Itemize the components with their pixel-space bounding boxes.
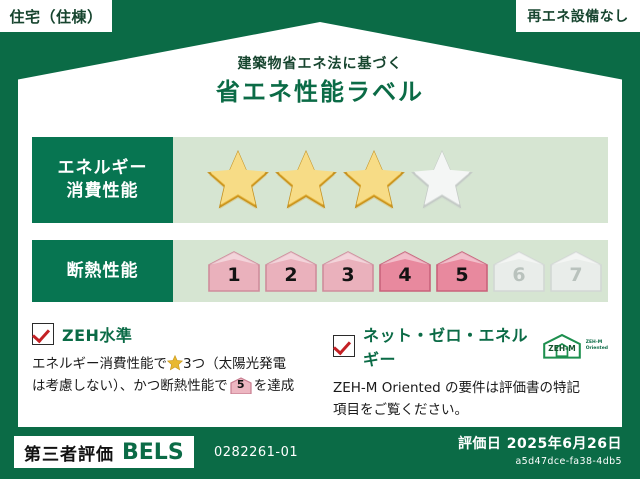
- star-filled-icon: [275, 150, 337, 210]
- evaluation-info: 評価日 2025年6月26日 a5d47dce-fa38-4db5: [458, 433, 622, 467]
- zeh-m-logo-caption: ZEH-M Oriented: [586, 340, 608, 351]
- evaluation-date: 評価日 2025年6月26日: [458, 433, 622, 453]
- insulation-performance-value: 1234567: [173, 240, 608, 302]
- star-rating: [207, 150, 473, 210]
- insulation-level-value: 2: [284, 264, 297, 292]
- zeh-body-part3: は考慮しない）、かつ断熱性能で: [32, 378, 228, 394]
- energy-performance-panel: エネルギー 消費性能: [32, 137, 608, 223]
- star-filled-icon: [343, 150, 405, 210]
- insulation-level-value: 6: [512, 264, 525, 292]
- zeh-body-part2: 3つ（太陽光発電: [183, 356, 286, 372]
- criteria-section: ZEH水準 エネルギー消費性能で3つ（太陽光発電 は考慮しない）、かつ断熱性能で…: [32, 322, 608, 422]
- net-zero-body: ZEH-M Oriented の要件は評価書の特記 項目をご覧ください。: [333, 377, 608, 422]
- insulation-key-label: 断熱性能: [67, 260, 139, 283]
- insulation-level-chip: 1: [207, 250, 261, 292]
- insulation-level-chip: 7: [549, 250, 603, 292]
- zeh-body-part4: を達成: [254, 378, 295, 394]
- energy-key-line2: 消費性能: [67, 180, 139, 203]
- insulation-level-chip: 3: [321, 250, 375, 292]
- net-zero-energy-column: ネット・ゼロ・エネルギー ZEH-M ZEH-M Oriented ZEH-M …: [333, 322, 608, 422]
- svg-text:ZEH-M: ZEH-M: [548, 344, 575, 353]
- renewable-equipment-tag: 再エネ設備なし: [516, 0, 640, 32]
- net-zero-body-line2: 項目をご覧ください。: [333, 402, 468, 418]
- inline-house-level-icon: 5: [230, 377, 252, 394]
- building-type-tag: 住宅（住棟）: [0, 0, 112, 32]
- bels-badge: 第三者評価 BELS: [14, 436, 194, 468]
- insulation-level-chip: 6: [492, 250, 546, 292]
- energy-performance-value: [173, 137, 608, 223]
- zeh-m-caption-line2: Oriented: [586, 346, 608, 351]
- insulation-performance-key: 断熱性能: [32, 240, 173, 302]
- page-title: 省エネ性能ラベル: [0, 78, 640, 107]
- net-zero-header: ネット・ゼロ・エネルギー ZEH-M ZEH-M Oriented: [333, 322, 608, 370]
- zeh-standard-column: ZEH水準 エネルギー消費性能で3つ（太陽光発電 は考慮しない）、かつ断熱性能で…: [32, 322, 307, 422]
- net-zero-body-line1: ZEH-M Oriented の要件は評価書の特記: [333, 380, 580, 396]
- insulation-level-chip: 2: [264, 250, 318, 292]
- bels-jp-label: 第三者評価: [24, 440, 114, 465]
- energy-performance-key: エネルギー 消費性能: [32, 137, 173, 223]
- insulation-level-value: 4: [398, 264, 411, 292]
- insulation-level-chip: 4: [378, 250, 432, 292]
- label-footer: 第三者評価 BELS 0282261-01 評価日 2025年6月26日 a5d…: [0, 427, 640, 479]
- star-empty-icon: [411, 150, 473, 210]
- energy-performance-label: 住宅（住棟） 再エネ設備なし 建築物省エネ法に基づく 省エネ性能ラベル エネルギ…: [0, 0, 640, 479]
- title-subtitle: 建築物省エネ法に基づく: [0, 56, 640, 73]
- zeh-m-logo: ZEH-M ZEH-M Oriented: [541, 333, 608, 359]
- insulation-performance-panel: 断熱性能 1234567: [32, 240, 608, 302]
- bels-en-label: BELS: [122, 440, 184, 465]
- zeh-body-part1: エネルギー消費性能で: [32, 356, 167, 372]
- zeh-standard-body: エネルギー消費性能で3つ（太陽光発電 は考慮しない）、かつ断熱性能で5を達成: [32, 353, 307, 398]
- energy-key-line1: エネルギー: [58, 157, 148, 180]
- insulation-level-value: 1: [227, 264, 240, 292]
- insulation-level-value: 7: [569, 264, 582, 292]
- inline-house-level-value: 5: [230, 376, 252, 394]
- evaluation-id: a5d47dce-fa38-4db5: [458, 456, 622, 467]
- zeh-standard-title: ZEH水準: [62, 322, 132, 346]
- insulation-level-value: 3: [341, 264, 354, 292]
- check-icon-zeh: [32, 323, 54, 345]
- check-icon-netzero: [333, 335, 355, 357]
- zeh-m-caption-line1: ZEH-M: [586, 340, 602, 345]
- zeh-standard-header: ZEH水準: [32, 322, 307, 346]
- insulation-level-value: 5: [455, 264, 468, 292]
- star-filled-icon: [207, 150, 269, 210]
- insulation-level-chip: 5: [435, 250, 489, 292]
- label-title-block: 建築物省エネ法に基づく 省エネ性能ラベル: [0, 56, 640, 107]
- bels-number: 0282261-01: [214, 445, 298, 460]
- inline-star-icon: [167, 355, 183, 371]
- net-zero-title: ネット・ゼロ・エネルギー: [363, 322, 529, 370]
- insulation-level-scale: 1234567: [207, 250, 603, 292]
